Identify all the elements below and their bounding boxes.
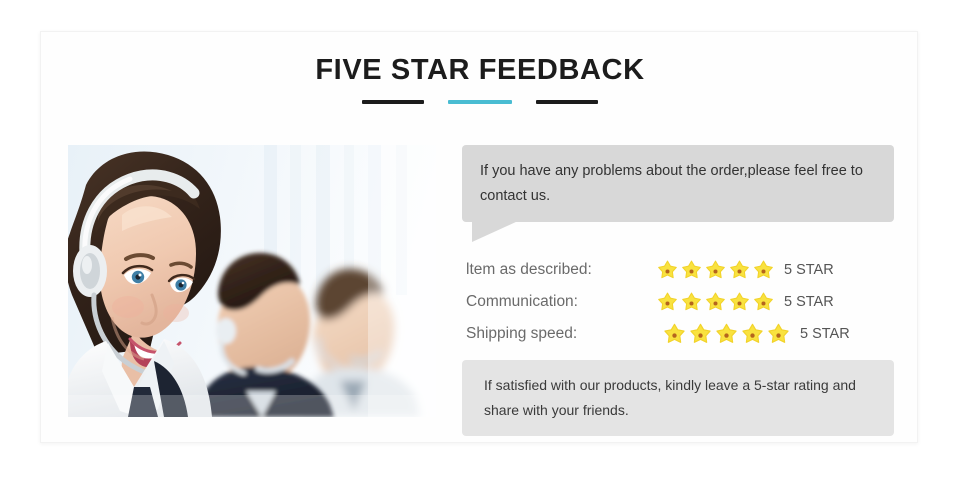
star-icon <box>656 291 679 314</box>
bubble-tail <box>472 221 518 242</box>
star-icon <box>752 291 775 314</box>
star-icon <box>752 259 775 282</box>
star-rating <box>662 322 791 347</box>
contact-bubble-text: If you have any problems about the order… <box>480 159 876 209</box>
rating-row: Communication: 5 STAR <box>466 286 906 318</box>
feedback-card: FIVE STAR FEEDBACK <box>40 31 918 443</box>
star-icon <box>766 322 791 347</box>
rating-value: 5 STAR <box>784 262 834 278</box>
star-rating <box>656 291 775 314</box>
satisfaction-note: If satisfied with our products, kindly l… <box>462 360 894 436</box>
rating-label: Shipping speed: <box>466 325 656 343</box>
customer-service-photo-image <box>68 145 436 417</box>
star-icon <box>656 259 679 282</box>
divider-group <box>41 100 919 104</box>
star-icon <box>704 259 727 282</box>
star-icon <box>728 259 751 282</box>
star-icon <box>740 322 765 347</box>
divider-left <box>362 100 424 104</box>
rating-row: Shipping speed: 5 STAR <box>466 318 906 350</box>
rating-value: 5 STAR <box>784 294 834 310</box>
divider-right <box>536 100 598 104</box>
contact-bubble: If you have any problems about the order… <box>462 145 894 222</box>
rating-label: Communication: <box>466 293 656 311</box>
star-rating <box>656 259 775 282</box>
divider-center <box>448 100 512 104</box>
satisfaction-note-text: If satisfied with our products, kindly l… <box>484 373 874 423</box>
star-icon <box>680 291 703 314</box>
star-icon <box>662 322 687 347</box>
contact-bubble-box: If you have any problems about the order… <box>462 145 894 222</box>
ratings-list: ltem as described: 5 STAR Communication: <box>466 254 906 350</box>
star-icon <box>680 259 703 282</box>
rating-label: ltem as described: <box>466 261 656 279</box>
rating-value: 5 STAR <box>800 326 850 342</box>
star-icon <box>728 291 751 314</box>
star-icon <box>714 322 739 347</box>
star-icon <box>688 322 713 347</box>
customer-service-photo <box>68 145 436 417</box>
rating-row: ltem as described: 5 STAR <box>466 254 906 286</box>
page-title: FIVE STAR FEEDBACK <box>41 54 919 87</box>
page-root: FIVE STAR FEEDBACK <box>0 0 960 496</box>
star-icon <box>704 291 727 314</box>
